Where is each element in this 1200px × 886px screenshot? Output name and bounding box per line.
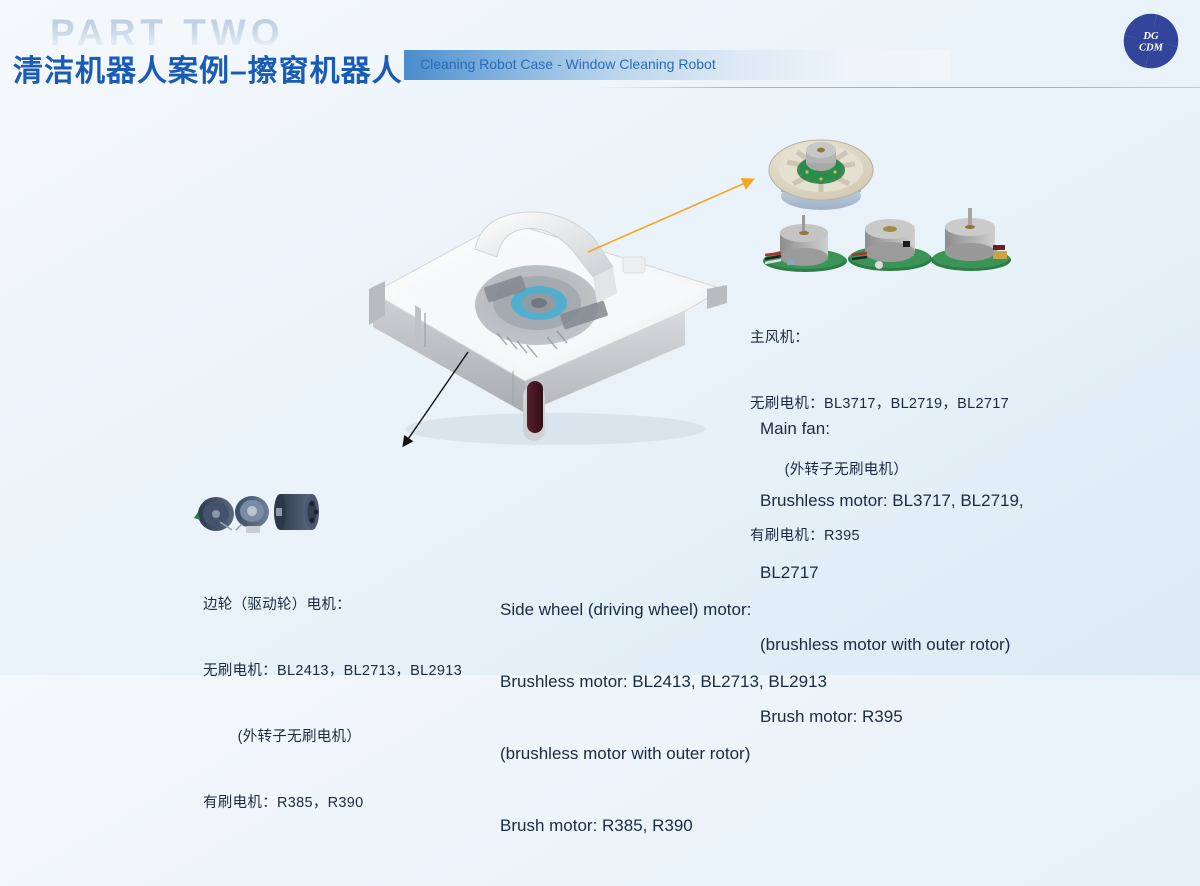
side-en-line2: Brushless motor: BL2413, BL2713, BL2913 xyxy=(500,670,827,694)
side-cn-line2: 无刷电机：BL2413，BL2713，BL2913 xyxy=(203,660,462,682)
logo-text-cdm: CDM xyxy=(1139,42,1164,53)
side-en-line3: (brushless motor with outer rotor) xyxy=(500,742,827,766)
side-cn-line1: 边轮（驱动轮）电机： xyxy=(203,594,462,616)
side-wheel-motors-image xyxy=(192,482,327,542)
subtitle-bar: Cleaning Robot Case - Window Cleaning Ro… xyxy=(404,50,950,80)
brushless-motors-image xyxy=(757,205,1012,280)
side-wheel-callout-cn: 边轮（驱动轮）电机： 无刷电机：BL2413，BL2713，BL2913 (外转… xyxy=(203,550,462,858)
page-title: 清洁机器人案例–擦窗机器人 xyxy=(13,46,403,90)
subtitle-text: Cleaning Robot Case - Window Cleaning Ro… xyxy=(420,56,716,72)
fan-cn-line1: 主风机： xyxy=(750,327,1009,349)
logo-text-dg: DG xyxy=(1142,31,1159,42)
dgcdm-logo-icon: DG CDM xyxy=(1120,10,1182,72)
slide-root: PART TWO 清洁机器人案例–擦窗机器人 Cleaning Robot Ca… xyxy=(0,0,1200,675)
fan-en-line1: Main fan: xyxy=(760,417,1024,441)
fan-en-line2: Brushless motor: BL3717, BL2719, xyxy=(760,489,1024,513)
side-en-line1: Side wheel (driving wheel) motor: xyxy=(500,598,827,622)
side-cn-line3: (外转子无刷电机） xyxy=(203,726,462,748)
side-en-line4: Brush motor: R385, R390 xyxy=(500,814,827,838)
header-divider xyxy=(598,87,1200,88)
side-wheel-callout-en: Side wheel (driving wheel) motor: Brushl… xyxy=(500,550,827,886)
main-fan-assembly-image xyxy=(757,122,885,218)
side-cn-line4: 有刷电机：R385，R390 xyxy=(203,792,462,814)
window-cleaning-robot-image xyxy=(355,185,750,455)
